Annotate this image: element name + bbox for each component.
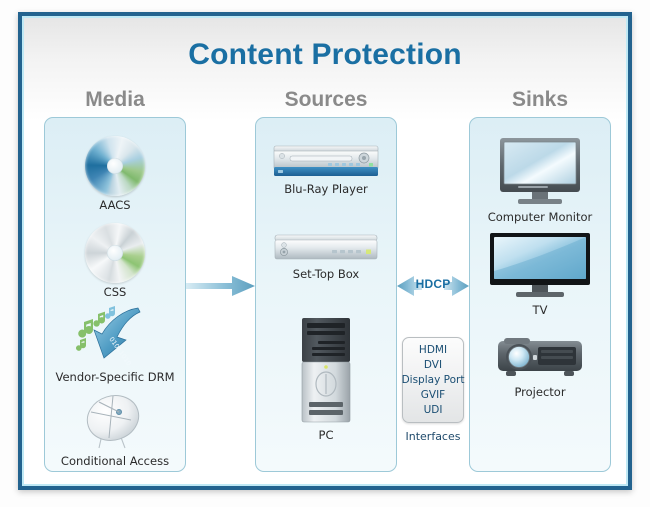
interfaces-caption: Interfaces — [396, 430, 470, 443]
television-icon — [488, 231, 592, 301]
sinks-item-label: TV — [470, 304, 610, 317]
diagram-canvas: Content Protection Media Sources Sinks A… — [0, 0, 650, 507]
page-title: Content Protection — [0, 38, 650, 72]
media-item-css[interactable]: CSS — [45, 223, 185, 299]
set-top-box-icon — [272, 233, 380, 265]
media-item-conditional-access[interactable]: Conditional Access — [45, 390, 185, 468]
column-header-media: Media — [44, 88, 186, 112]
media-item-label: CSS — [45, 286, 185, 299]
interface-item: Display Port — [402, 373, 465, 388]
arrow-media-to-sources — [186, 273, 256, 299]
optical-disc-icon — [85, 223, 145, 283]
hdcp-connector-label: HDCP — [396, 277, 470, 291]
media-item-label: AACS — [45, 199, 185, 212]
sinks-item-computer-monitor[interactable]: Computer Monitor — [470, 136, 610, 224]
column-header-sources: Sources — [255, 88, 397, 112]
interface-item: HDMI — [419, 343, 447, 358]
sources-item-bluray-player[interactable]: Blu-Ray Player — [256, 144, 396, 196]
sources-item-set-top-box[interactable]: Set-Top Box — [256, 233, 396, 281]
sinks-item-projector[interactable]: Projector — [470, 335, 610, 399]
interface-item: GVIF — [421, 388, 445, 403]
media-item-vendor-drm[interactable]: 01011010 Vendor-Specific DRM — [45, 306, 185, 384]
desktop-tower-icon — [298, 316, 354, 426]
column-panel-sources: Blu-Ray Player — [255, 117, 397, 472]
sinks-item-tv[interactable]: TV — [470, 231, 610, 317]
optical-disc-icon — [85, 136, 145, 196]
sources-item-label: Set-Top Box — [256, 268, 396, 281]
media-item-aacs[interactable]: AACS — [45, 136, 185, 212]
column-header-sinks: Sinks — [469, 88, 611, 112]
computer-monitor-icon — [494, 136, 586, 208]
sinks-item-label: Projector — [470, 386, 610, 399]
column-panel-sinks: Computer Monitor TV — [469, 117, 611, 472]
satellite-dish-icon — [79, 390, 151, 452]
sources-item-label: PC — [256, 429, 396, 442]
sources-item-pc[interactable]: PC — [256, 316, 396, 442]
blu-ray-player-icon — [272, 144, 380, 180]
sources-item-label: Blu-Ray Player — [256, 183, 396, 196]
sinks-item-label: Computer Monitor — [470, 211, 610, 224]
interface-item: UDI — [424, 403, 443, 418]
drm-download-arrow-icon: 01011010 — [76, 306, 154, 368]
media-item-label: Conditional Access — [45, 455, 185, 468]
interfaces-box: HDMI DVI Display Port GVIF UDI — [402, 337, 464, 423]
interface-item: DVI — [424, 358, 442, 373]
column-panel-media: AACS CSS — [44, 117, 186, 472]
media-item-label: Vendor-Specific DRM — [45, 371, 185, 384]
projector-icon — [494, 335, 586, 383]
